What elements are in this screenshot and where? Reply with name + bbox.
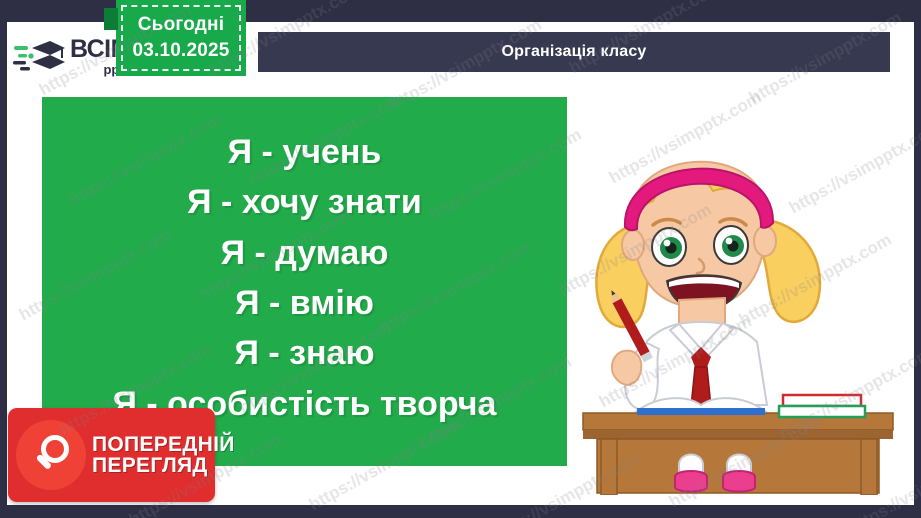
schoolgirl-at-desk-illustration <box>575 95 905 495</box>
graduation-cap-icon <box>12 34 66 78</box>
header-bar: Організація класу <box>258 32 890 72</box>
preview-badge-text: ПОПЕРЕДНІЙ ПЕРЕГЛЯД <box>92 434 235 477</box>
board-line: Я - хочу знати <box>187 177 422 227</box>
preview-badge-line2: ПЕРЕГЛЯД <box>92 455 235 476</box>
board-line: Я - думаю <box>221 228 389 278</box>
date-tag-value: 03.10.2025 <box>132 40 229 62</box>
slide-root: ВСІМ pptx Сьогодні 03.10.2025 Організаці… <box>0 0 921 518</box>
preview-badge-line1: ПОПЕРЕДНІЙ <box>92 434 235 455</box>
date-tag-ribbon <box>104 8 118 30</box>
date-tag-label: Сьогодні <box>138 14 224 36</box>
preview-badge[interactable]: ПОПЕРЕДНІЙ ПЕРЕГЛЯД <box>8 408 215 502</box>
board-line: Я - знаю <box>234 328 374 378</box>
date-tag: Сьогодні 03.10.2025 <box>116 0 246 76</box>
page-title: Організація класу <box>501 43 646 61</box>
board-line: Я - вмію <box>235 278 374 328</box>
board-line: Я - учень <box>228 127 382 177</box>
magnifier-icon <box>16 420 86 490</box>
